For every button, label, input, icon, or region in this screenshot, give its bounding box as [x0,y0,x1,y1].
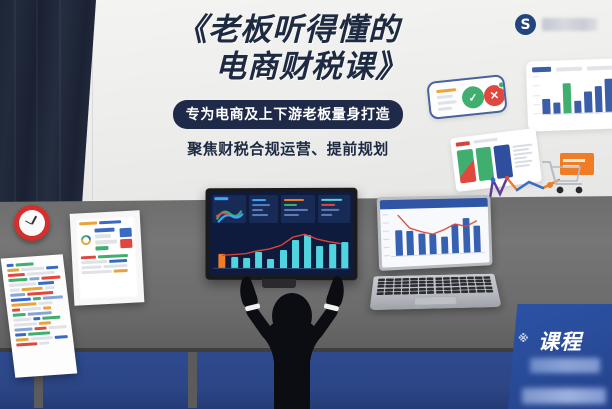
laptop-chart-trend-line [389,210,485,266]
analytics-card [526,58,612,131]
monitor-dashboard-chart [213,228,349,276]
laptop-key [411,278,418,281]
laptop-key [484,283,492,286]
laptop-key [402,285,409,288]
dashboard-top-panels [209,192,353,226]
laptop-key [475,276,482,279]
clock-face [19,210,45,236]
laptop-keyboard-base [370,274,502,310]
analytics-card-bar [563,83,572,114]
laptop-key [411,284,418,287]
laptop-key [435,281,442,284]
analytics-card-header [532,65,612,73]
laptop-key [443,277,450,280]
laptop-key [435,284,442,287]
brand-mark-icon: S [515,14,536,35]
laptop-key [393,292,400,295]
poster-canvas: S 《老板听得懂的 电商财税课》 专为电商及上下游老板量身打造 聚焦财税合规运营… [0,0,612,409]
laptop-screen [380,198,490,268]
laptop-key [484,279,491,282]
laptop-key [451,280,458,283]
document-mid [70,210,145,306]
wall-clock [14,205,50,241]
course-badge-label: 课程 [538,326,582,356]
course-badge-blurred-1 [530,358,600,373]
laptop-key [467,280,474,283]
document-left-content [6,261,68,347]
laptop-key [377,289,384,292]
laptop-key [419,278,426,281]
laptop-key [451,277,458,280]
person-silhouette [222,270,362,409]
laptop-key [411,281,418,284]
document-mid-content [75,215,139,300]
laptop-key [402,288,409,291]
course-badge-blurred-2 [522,388,606,404]
laptop-key [427,281,434,284]
laptop-key [377,285,384,288]
status-dot-icon [498,81,506,89]
subtitle-text: 聚焦财税合规运营、提前规划 [108,138,468,159]
laptop-key [443,284,450,287]
donut-chart-icon [79,228,92,253]
laptop-key [452,283,459,286]
page-title-line-1: 《老板听得懂的 [108,14,468,47]
laptop-key [477,290,485,293]
laptop-trackpad [414,296,458,305]
laptop-key [419,284,426,287]
laptop-key [427,284,434,287]
monitor-screen [209,192,353,277]
course-badge-prefix: ※ [518,332,529,345]
laptop-key [477,286,485,289]
desktop-monitor [206,188,358,281]
laptop-key [452,290,459,293]
laptop-key [468,286,476,289]
laptop-key [460,283,467,286]
laptop-key [476,283,483,286]
laptop-key [378,282,385,285]
laptop-chart [389,210,485,266]
laptop-key [386,285,393,288]
shopping-cart-orange [536,150,598,198]
title-block: 《老板听得懂的 电商财税课》 专为电商及上下游老板量身打造 聚焦财税合规运营、提… [108,14,468,159]
laptop-key [410,288,417,291]
laptop-key [468,283,475,286]
laptop-key [419,288,426,291]
laptop-key [385,292,392,295]
page-title-line-2: 电商财税课》 [108,51,468,84]
laptop-key [378,279,385,282]
course-badge-panel: ※ 课程 [508,304,612,409]
laptop-key [486,289,494,292]
laptop-key [460,287,467,290]
analytics-card-bar [542,99,550,115]
laptop-key [461,290,469,293]
laptop-key [394,285,401,288]
laptop-key [386,282,393,285]
laptop-key [410,291,417,294]
laptop-key [469,290,477,293]
analytics-card-bar [605,78,612,112]
desk-leg-right [188,352,197,408]
laptop-key [394,288,401,291]
laptop-key [385,288,392,291]
laptop-key [419,281,426,284]
laptop-key [394,281,401,284]
analytics-card-chart [532,74,612,123]
laptop-key [427,291,434,294]
laptop-key [419,291,426,294]
monitor-chart-trend-line [213,228,349,276]
laptop-key [459,280,466,283]
laptop-key [476,280,483,283]
laptop-key [444,287,451,290]
laptop-keys [371,274,498,297]
analytics-card-bar [584,92,592,114]
laptop-key [427,287,434,290]
navy-curtain [0,0,96,205]
laptop-app-header [380,198,488,210]
laptop-key [485,286,493,289]
laptop-key [452,287,459,290]
laptop-key [436,291,443,294]
laptop-key [377,292,385,295]
laptop-key [443,280,450,283]
analytics-card-bar [595,86,604,113]
laptop-key [402,291,409,294]
laptop-key [435,287,442,290]
audience-pill: 专为电商及上下游老板量身打造 [173,100,403,129]
brand-logo: S [515,14,598,35]
laptop-lid [377,195,493,271]
laptop-key [402,281,409,284]
laptop-key [444,290,451,293]
brand-name-blurred [542,18,598,31]
